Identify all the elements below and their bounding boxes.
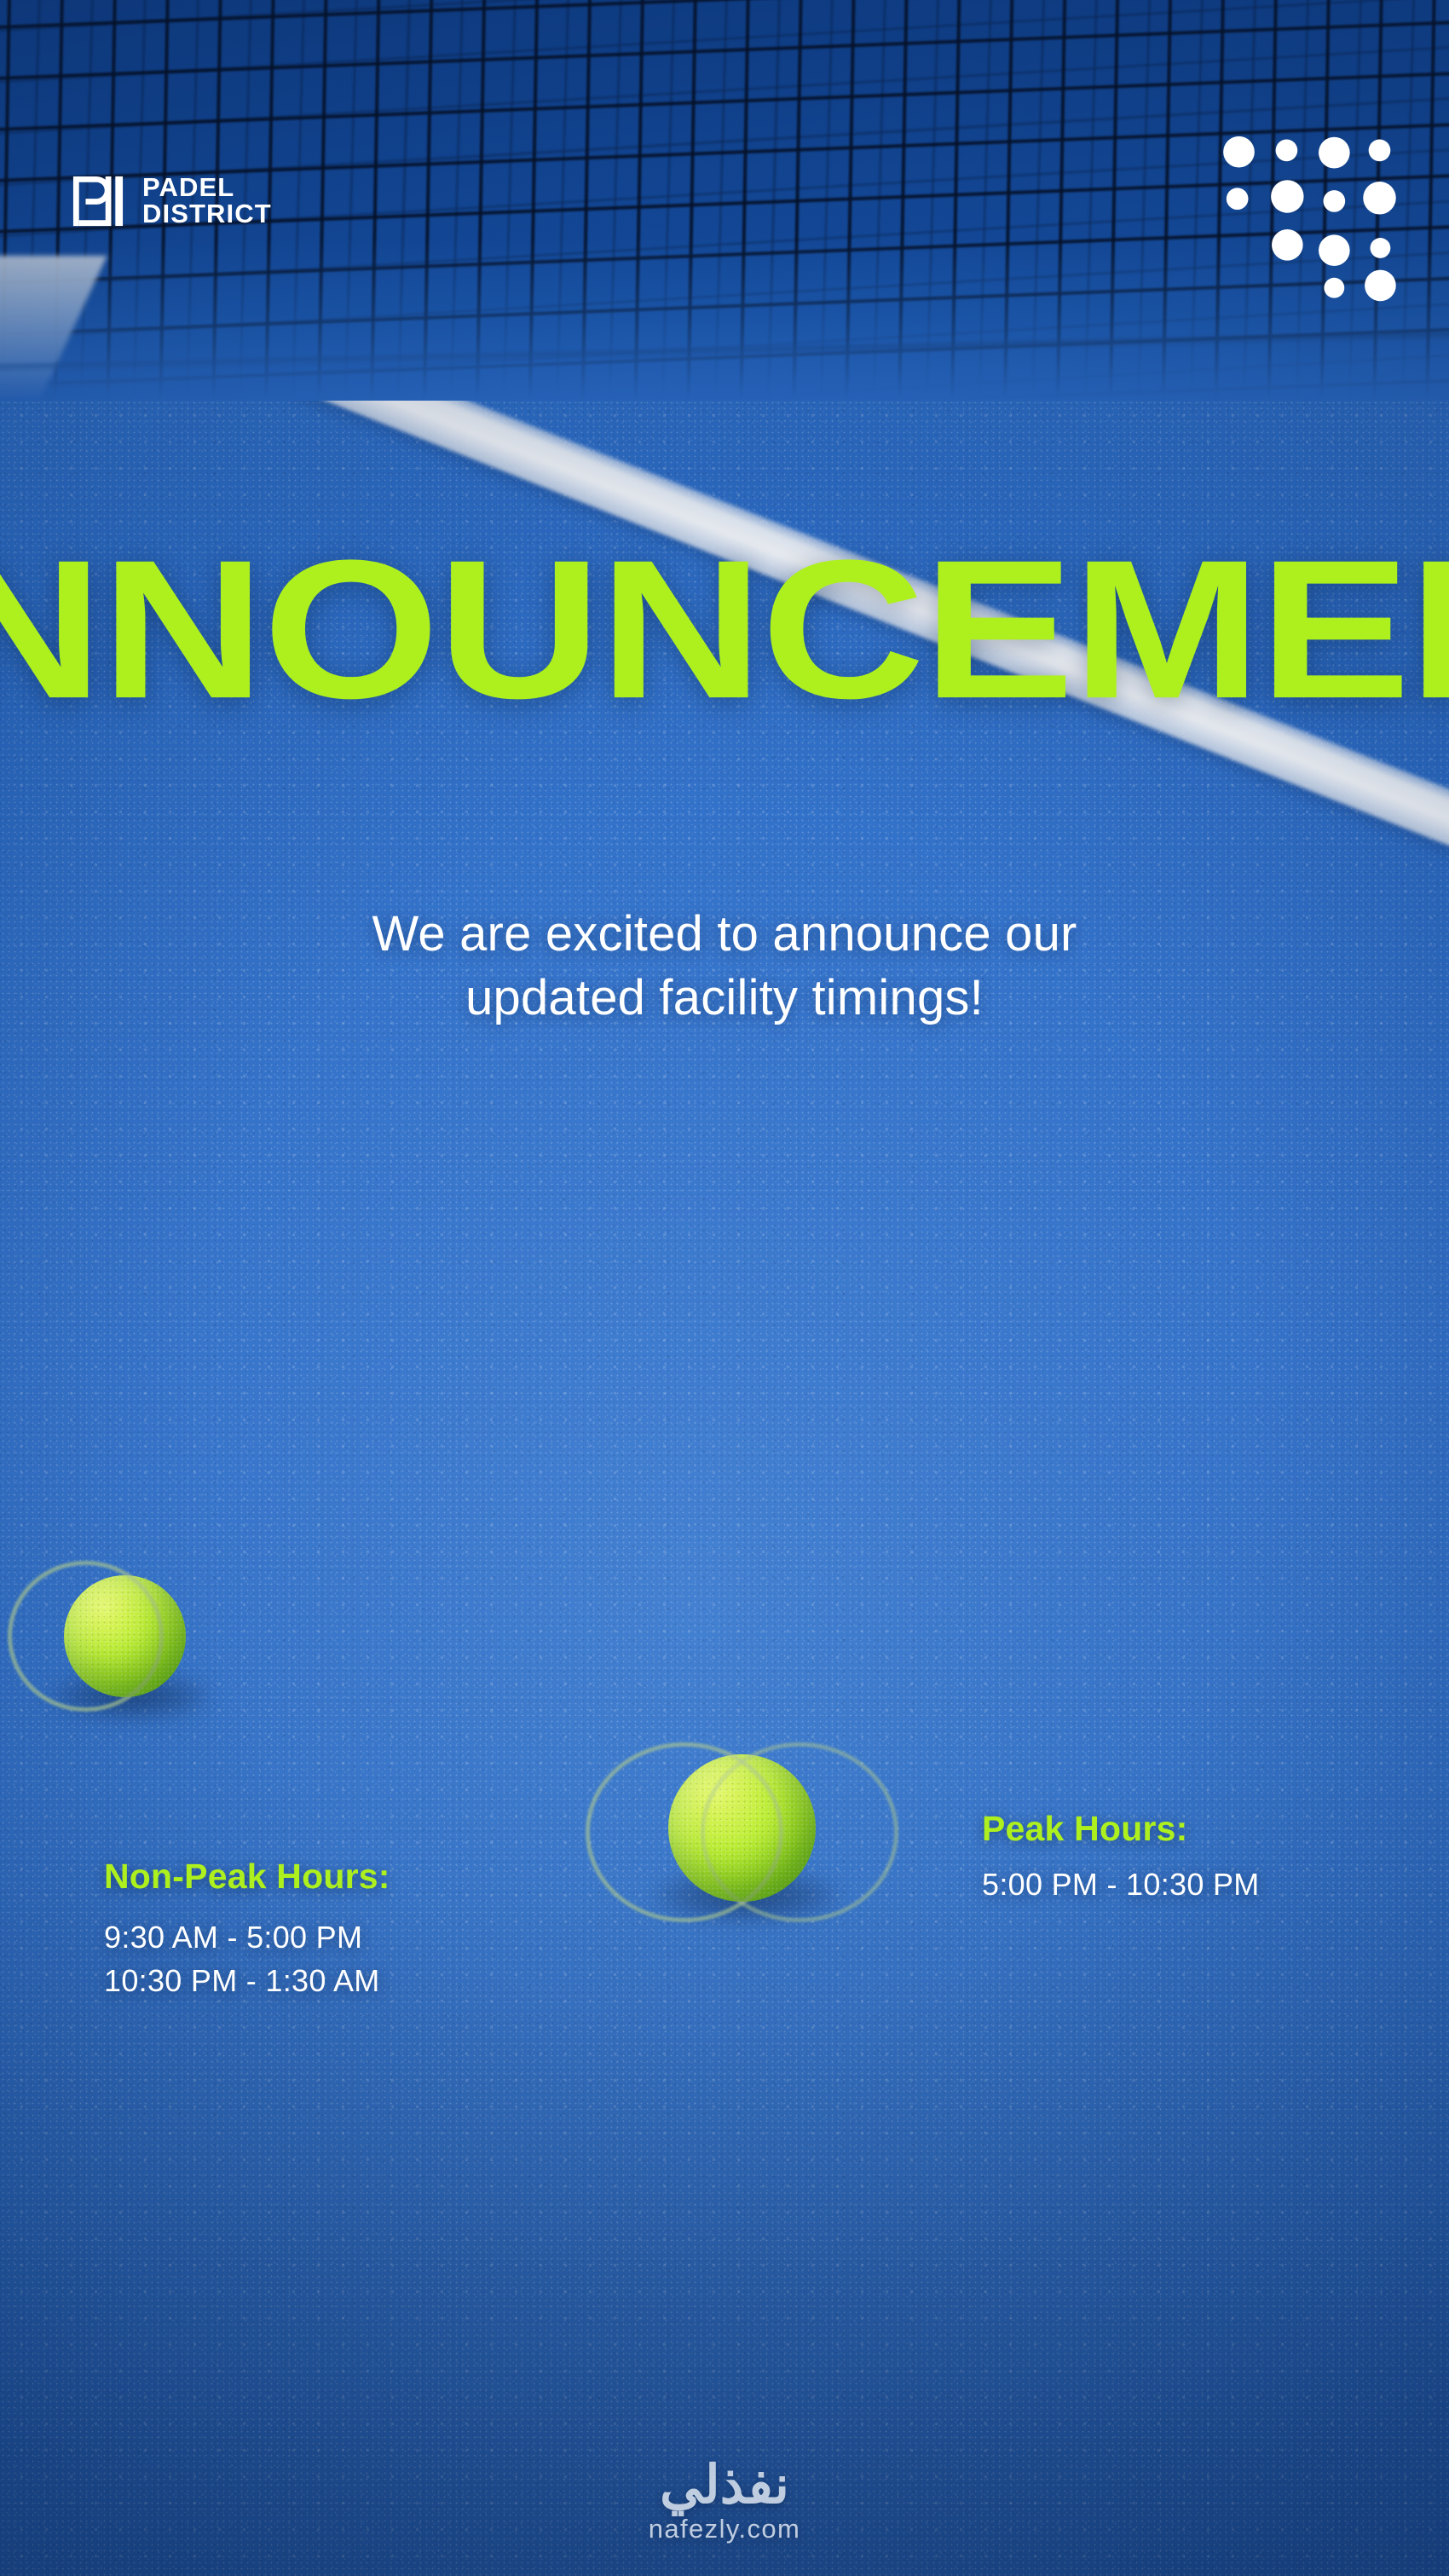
dot-grid-dot: [1369, 140, 1391, 162]
dot-grid-dot: [1319, 234, 1350, 266]
dot-grid-dot: [1371, 238, 1391, 258]
schedule-time: 9:30 AM - 5:00 PM: [104, 1915, 390, 1959]
tennis-ball-icon: [668, 1754, 816, 1902]
schedule-label: Non-Peak Hours:: [104, 1857, 390, 1897]
brand-logo[interactable]: PADEL DISTRICT: [72, 175, 272, 228]
subtitle-line-1: We are excited to announce our: [213, 902, 1236, 966]
subtitle: We are excited to announce our updated f…: [213, 902, 1236, 1031]
dot-grid-icon: [1215, 128, 1403, 311]
brand-name-line2: DISTRICT: [142, 201, 272, 228]
vignette-overlay: [0, 0, 1449, 2576]
watermark[interactable]: نفذلي nafezly.com: [0, 2459, 1449, 2544]
schedule-time: 10:30 PM - 1:30 AM: [104, 1959, 390, 2002]
announcement-poster: PADEL DISTRICT ANNOUNCEMENT We are excit…: [0, 0, 1449, 2576]
dot-grid-dot: [1271, 180, 1304, 213]
schedule-block-peak: Peak Hours: 5:00 PM - 10:30 PM: [982, 1809, 1260, 1906]
dot-grid-dot: [1319, 137, 1350, 169]
ball-shading: [64, 1575, 186, 1697]
headline-text: ANNOUNCEMENT: [0, 531, 1449, 729]
dot-grid-dot: [1324, 190, 1346, 212]
brand-name-line1: PADEL: [142, 175, 272, 201]
dot-grid-dot: [1365, 270, 1396, 302]
schedule-block-non-peak: Non-Peak Hours: 9:30 AM - 5:00 PM 10:30 …: [104, 1857, 390, 2002]
schedule-time: 5:00 PM - 10:30 PM: [982, 1863, 1260, 1906]
watermark-arabic: نفذلي: [0, 2459, 1449, 2512]
watermark-domain: nafezly.com: [0, 2515, 1449, 2544]
padel-district-monogram-icon: [72, 175, 124, 228]
dot-grid-dot: [1324, 278, 1344, 298]
schedule-label: Peak Hours:: [982, 1809, 1260, 1849]
dot-grid-dot: [1363, 182, 1396, 214]
subtitle-line-2: updated facility timings!: [213, 966, 1236, 1030]
ball-shading: [668, 1754, 816, 1902]
dot-grid-dot: [1223, 136, 1255, 168]
page-title: ANNOUNCEMENT: [0, 542, 1449, 717]
dot-grid-dot: [1276, 140, 1298, 162]
tennis-ball-icon: [64, 1575, 186, 1697]
dot-grid-dot: [1227, 188, 1249, 210]
dot-grid-dot: [1272, 229, 1303, 261]
